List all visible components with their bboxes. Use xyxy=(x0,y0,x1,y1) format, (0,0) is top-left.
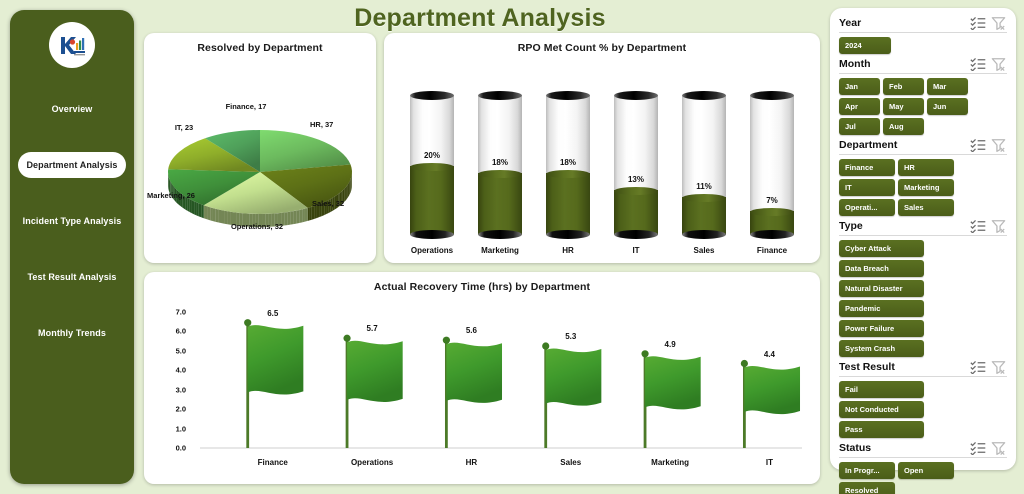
flag-value-label: 5.6 xyxy=(466,326,477,335)
cylinder-base xyxy=(614,230,658,239)
filter-chip[interactable]: Open xyxy=(898,462,954,479)
filter-chip[interactable]: HR xyxy=(898,159,954,176)
pie-label-operations: Operations, 32 xyxy=(226,222,288,231)
y-axis-tick-label: 7.0 xyxy=(152,308,186,317)
cylinder-bar-chart: 20%Operations18%Marketing18%HR13%IT11%Sa… xyxy=(398,81,806,255)
flag-shape[interactable] xyxy=(248,325,304,394)
filter-chip[interactable]: Jun xyxy=(927,98,968,115)
filter-chip[interactable]: Fail xyxy=(839,381,924,398)
filter-chip[interactable]: Power Failure xyxy=(839,320,924,337)
flag-category-label: IT xyxy=(766,458,773,467)
flag-knob xyxy=(443,337,450,344)
cylinder-fill-top xyxy=(682,194,726,202)
filter-chip[interactable]: Aug xyxy=(883,118,924,135)
bar-value-label: 18% xyxy=(546,158,590,167)
filter-chip[interactable]: In Progr... xyxy=(839,462,895,479)
bar-value-label: 13% xyxy=(614,175,658,184)
multi-select-icon[interactable] xyxy=(970,360,987,374)
cylinder-fill xyxy=(478,173,522,235)
cylinder-base xyxy=(410,230,454,239)
y-axis-tick-label: 3.0 xyxy=(152,385,186,394)
cylinder-fill xyxy=(546,173,590,235)
flag-knob xyxy=(641,350,648,357)
clear-filter-icon[interactable] xyxy=(990,138,1007,152)
flag-value-label: 4.4 xyxy=(764,350,775,359)
filter-group-header: Status xyxy=(839,441,1007,458)
filter-chip-list: JanFebMarAprMayJunJulAug xyxy=(839,78,1007,135)
sidebar-item-department-analysis[interactable]: Department Analysis xyxy=(18,152,126,178)
cylinder-bar[interactable]: 11% xyxy=(682,95,726,235)
pie-label-it: IT, 23 xyxy=(162,123,206,132)
bar-column[interactable]: 18%HR xyxy=(544,95,592,255)
bar-category-label: Operations xyxy=(411,246,453,255)
filter-chip[interactable]: Feb xyxy=(883,78,924,95)
pie-chart-svg xyxy=(144,54,376,250)
resolved-by-department-card: Resolved by Department Finance, 17 HR, 3… xyxy=(144,33,376,263)
flag-chart-title: Actual Recovery Time (hrs) by Department xyxy=(144,272,820,293)
cylinder-fill-top xyxy=(546,170,590,178)
filter-chip[interactable]: Not Conducted xyxy=(839,401,924,418)
rpo-met-count-card: RPO Met Count % by Department 20%Operati… xyxy=(384,33,820,263)
filter-chip[interactable]: Marketing xyxy=(898,179,954,196)
clear-filter-icon[interactable] xyxy=(990,360,1007,374)
y-axis-tick-label: 1.0 xyxy=(152,424,186,433)
filter-chip[interactable]: Jul xyxy=(839,118,880,135)
flag-knob xyxy=(343,335,350,342)
filter-chip-list: In Progr...OpenResolved xyxy=(839,462,1007,494)
bar-value-label: 7% xyxy=(750,196,794,205)
pie-label-finance: Finance, 17 xyxy=(216,102,276,111)
clear-filter-icon[interactable] xyxy=(990,16,1007,30)
filter-group-header: Type xyxy=(839,219,1007,236)
pie-label-hr: HR, 37 xyxy=(310,120,360,129)
filter-group-header: Department xyxy=(839,138,1007,155)
flag-category-label: HR xyxy=(466,458,478,467)
flag-value-label: 4.9 xyxy=(665,340,676,349)
filter-chip[interactable]: 2024 xyxy=(839,37,891,54)
filter-chip[interactable]: Apr xyxy=(839,98,880,115)
filter-chip[interactable]: IT xyxy=(839,179,895,196)
filter-group-test-result: Test Result FailNot ConductedPass xyxy=(839,360,1007,438)
bar-column[interactable]: 7%Finance xyxy=(748,95,796,255)
flag-shape[interactable] xyxy=(645,356,701,409)
filter-panel: Year 2024Month JanFebMarAprMayJunJulAugD… xyxy=(830,8,1016,470)
bar-value-label: 11% xyxy=(682,182,726,191)
pie-chart-title: Resolved by Department xyxy=(144,33,376,54)
filter-chip-list: FinanceHRITMarketingOperati...Sales xyxy=(839,159,1007,216)
filter-group-header: Month xyxy=(839,57,1007,74)
cylinder-fill xyxy=(410,166,454,235)
flag-value-label: 6.5 xyxy=(267,309,278,318)
flag-value-label: 5.7 xyxy=(367,324,378,333)
cylinder-bar[interactable]: 18% xyxy=(478,95,522,235)
cylinder-top xyxy=(478,91,522,100)
filter-chip[interactable]: Mar xyxy=(927,78,968,95)
logo-icon xyxy=(52,25,92,65)
actual-recovery-time-card: Actual Recovery Time (hrs) by Department… xyxy=(144,272,820,484)
pie-label-marketing: Marketing, 26 xyxy=(142,191,200,200)
y-axis-tick-label: 5.0 xyxy=(152,346,186,355)
filter-chip[interactable]: May xyxy=(883,98,924,115)
company-logo xyxy=(49,22,95,68)
clear-filter-icon[interactable] xyxy=(990,219,1007,233)
flag-category-label: Finance xyxy=(258,458,288,467)
sidebar-item-monthly-trends[interactable]: Monthly Trends xyxy=(18,320,126,346)
filter-group-label: Test Result xyxy=(839,361,967,373)
y-axis-tick-label: 6.0 xyxy=(152,327,186,336)
filter-group-type: Type Cyber AttackData BreachNatural Disa… xyxy=(839,219,1007,357)
flag-chart-svg xyxy=(144,298,820,484)
pie-chart: Finance, 17 HR, 37 Sales, 32 Operations,… xyxy=(144,54,376,250)
bar-category-label: Sales xyxy=(694,246,715,255)
filter-chip[interactable]: Jan xyxy=(839,78,880,95)
y-axis-tick-label: 0.0 xyxy=(152,444,186,453)
filter-group-label: Department xyxy=(839,139,967,151)
filter-chip[interactable]: Pandemic xyxy=(839,300,924,317)
sidebar-item-test-result-analysis[interactable]: Test Result Analysis xyxy=(18,264,126,290)
filter-chip[interactable]: System Crash xyxy=(839,340,924,357)
flag-shape[interactable] xyxy=(446,343,502,403)
bar-value-label: 20% xyxy=(410,151,454,160)
bar-category-label: IT xyxy=(632,246,639,255)
bar-column[interactable]: 20%Operations xyxy=(408,95,456,255)
flag-knob xyxy=(741,360,748,367)
filter-chip[interactable]: Natural Disaster xyxy=(839,280,924,297)
bar-category-label: Finance xyxy=(757,246,787,255)
page-title: Department Analysis xyxy=(140,4,820,33)
cylinder-top xyxy=(614,91,658,100)
bar-category-label: HR xyxy=(562,246,574,255)
bar-column[interactable]: 18%Marketing xyxy=(476,95,524,255)
multi-select-icon[interactable] xyxy=(970,16,987,30)
multi-select-icon[interactable] xyxy=(970,57,987,71)
cylinder-bar[interactable]: 18% xyxy=(546,95,590,235)
flag-category-label: Marketing xyxy=(651,458,689,467)
clear-filter-icon[interactable] xyxy=(990,57,1007,71)
flag-category-label: Sales xyxy=(560,458,581,467)
filter-group-month: Month JanFebMarAprMayJunJulAug xyxy=(839,57,1007,135)
cylinder-top xyxy=(750,91,794,100)
filter-group-label: Status xyxy=(839,442,967,454)
sidebar-item-overview[interactable]: Overview xyxy=(18,96,126,122)
cylinder-base xyxy=(546,230,590,239)
sidebar-item-incident-type-analysis[interactable]: Incident Type Analysis xyxy=(18,208,126,234)
flag-category-label: Operations xyxy=(351,458,393,467)
filter-group-label: Year xyxy=(839,17,967,29)
cylinder-bar[interactable]: 7% xyxy=(750,95,794,235)
flag-value-label: 5.3 xyxy=(565,332,576,341)
filter-group-year: Year 2024 xyxy=(839,16,1007,54)
filter-group-label: Type xyxy=(839,220,967,232)
multi-select-icon[interactable] xyxy=(970,441,987,455)
flag-shape[interactable] xyxy=(546,348,602,405)
bar-column[interactable]: 11%Sales xyxy=(680,95,728,255)
y-axis-tick-label: 4.0 xyxy=(152,366,186,375)
cylinder-bar[interactable]: 13% xyxy=(614,95,658,235)
flag-knob xyxy=(542,342,549,349)
nav-item-list: Overview Department Analysis Incident Ty… xyxy=(10,96,134,376)
cylinder-fill-top xyxy=(478,170,522,178)
filter-chip[interactable]: Operati... xyxy=(839,199,895,216)
bar-column[interactable]: 13%IT xyxy=(612,95,660,255)
filter-group-header: Test Result xyxy=(839,360,1007,377)
filter-chip-list: FailNot ConductedPass xyxy=(839,381,1007,438)
dashboard-page: Overview Department Analysis Incident Ty… xyxy=(0,0,1024,494)
flag-shape[interactable] xyxy=(347,341,403,402)
y-axis-tick-label: 2.0 xyxy=(152,405,186,414)
cylinder-fill-top xyxy=(614,187,658,195)
cylinder-base xyxy=(682,230,726,239)
flag-bar-chart: 7.06.05.04.03.02.01.00.06.5Finance5.7Ope… xyxy=(144,298,820,484)
filter-chip[interactable]: Sales xyxy=(898,199,954,216)
cylinder-top xyxy=(546,91,590,100)
clear-filter-icon[interactable] xyxy=(990,441,1007,455)
flag-shape[interactable] xyxy=(744,366,800,414)
filter-chip[interactable]: Cyber Attack xyxy=(839,240,924,257)
multi-select-icon[interactable] xyxy=(970,219,987,233)
cylinder-fill-top xyxy=(410,163,454,171)
filter-chip[interactable]: Data Breach xyxy=(839,260,924,277)
filter-chip[interactable]: Resolved xyxy=(839,482,895,494)
filter-chip-list: Cyber AttackData BreachNatural DisasterP… xyxy=(839,240,1007,357)
filter-chip[interactable]: Finance xyxy=(839,159,895,176)
bar-chart-title: RPO Met Count % by Department xyxy=(384,33,820,54)
cylinder-top xyxy=(410,91,454,100)
flag-knob xyxy=(244,319,251,326)
cylinder-top xyxy=(682,91,726,100)
bar-value-label: 18% xyxy=(478,158,522,167)
filter-chip[interactable]: Pass xyxy=(839,421,924,438)
cylinder-fill-top xyxy=(750,208,794,216)
left-nav: Overview Department Analysis Incident Ty… xyxy=(10,10,134,484)
filter-chip-list: 2024 xyxy=(839,37,1007,54)
filter-group-department: Department FinanceHRITMarketingOperati..… xyxy=(839,138,1007,216)
filter-group-status: Status In Progr...OpenResolved xyxy=(839,441,1007,494)
pie-label-sales: Sales, 32 xyxy=(312,199,368,208)
filter-group-header: Year xyxy=(839,16,1007,33)
cylinder-base xyxy=(478,230,522,239)
cylinder-fill xyxy=(614,190,658,235)
cylinder-bar[interactable]: 20% xyxy=(410,95,454,235)
filter-group-label: Month xyxy=(839,58,967,70)
cylinder-base xyxy=(750,230,794,239)
bar-category-label: Marketing xyxy=(481,246,519,255)
multi-select-icon[interactable] xyxy=(970,138,987,152)
